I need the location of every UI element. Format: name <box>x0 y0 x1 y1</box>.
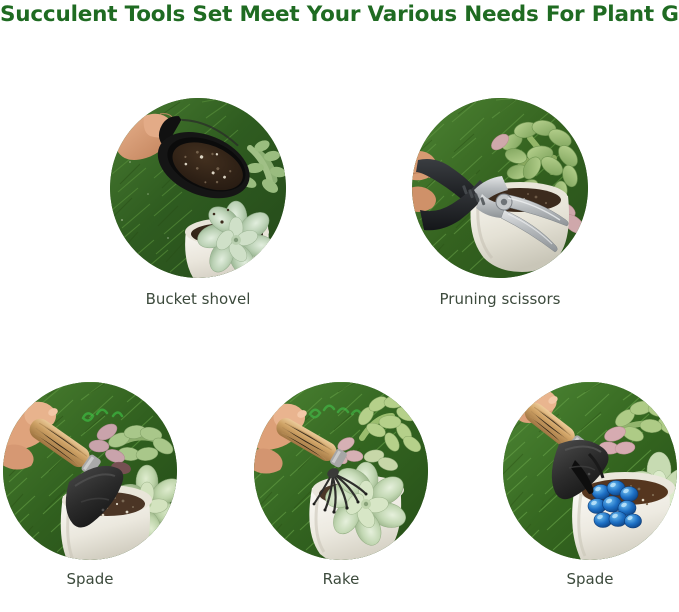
tile-label-rake: Rake <box>254 570 428 588</box>
tile-label-spade-1: Spade <box>3 570 177 588</box>
pruning-scissors-photo <box>412 98 588 278</box>
tile-label-spade-2: Spade <box>503 570 677 588</box>
rake-photo <box>254 382 428 560</box>
bucket-shovel-photo <box>110 98 286 278</box>
page-title: Succulent Tools Set Meet Your Various Ne… <box>0 2 679 27</box>
tile-label-bucket-shovel: Bucket shovel <box>110 290 286 308</box>
fork-spade-photo <box>503 382 677 560</box>
spade-photo <box>3 382 177 560</box>
tile-label-pruning-scissors: Pruning scissors <box>412 290 588 308</box>
